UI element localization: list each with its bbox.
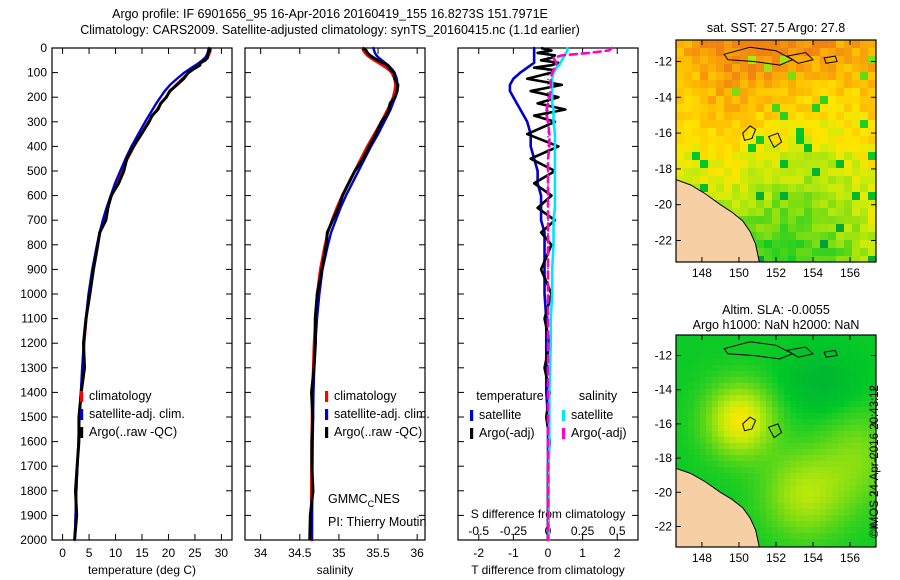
sla-pixel (790, 389, 796, 395)
sla-pixel (766, 389, 772, 395)
sla-pixel (784, 425, 790, 431)
sst-pixel (828, 80, 836, 88)
sst-pixel (788, 144, 796, 152)
sla-pixel (832, 521, 838, 527)
sla-pixel (754, 461, 760, 467)
sla-pixel (784, 401, 790, 407)
sla-pixel (850, 389, 856, 395)
sst-pixel (804, 88, 812, 96)
sla-pixel (832, 371, 838, 377)
sla-pixel (694, 467, 700, 473)
sla-pixel (706, 413, 712, 419)
sla-pixel (694, 431, 700, 437)
x-tick-label: 35 (332, 546, 346, 560)
sst-pixel (796, 248, 804, 256)
sla-pixel (718, 365, 724, 371)
sst-pixel (740, 64, 748, 72)
sst-pixel (796, 208, 804, 216)
sst-pixel (708, 184, 716, 192)
sla-pixel (844, 539, 850, 545)
sst-pixel (828, 248, 836, 256)
sst-pixel (708, 176, 716, 184)
sst-pixel (772, 120, 780, 128)
sla-pixel (796, 335, 802, 341)
sla-pixel (814, 467, 820, 473)
sla-pixel (748, 431, 754, 437)
sla-pixel (706, 377, 712, 383)
sst-pixel (764, 184, 772, 192)
sla-pixel (820, 335, 826, 341)
sst-pixel (796, 168, 804, 176)
sla-pixel (844, 515, 850, 521)
sla-pixel (790, 335, 796, 341)
sst-pixel (676, 72, 684, 80)
sla-pixel (688, 455, 694, 461)
sla-pixel (772, 491, 778, 497)
sst-pixel (812, 128, 820, 136)
sla-pixel (838, 497, 844, 503)
sla-pixel (784, 383, 790, 389)
sla-pixel (790, 437, 796, 443)
sst-pixel (692, 64, 700, 72)
sst-pixel (756, 184, 764, 192)
sla-pixel (766, 455, 772, 461)
sla-pixel (712, 389, 718, 395)
sst-pixel (732, 128, 740, 136)
sla-pixel (790, 449, 796, 455)
sla-pixel (814, 407, 820, 413)
sla-pixel (790, 455, 796, 461)
sst-pixel (748, 56, 756, 64)
sla-pixel (772, 365, 778, 371)
sst-pixel (836, 64, 844, 72)
sst-pixel (844, 232, 852, 240)
sla-pixel (742, 413, 748, 419)
sla-pixel (808, 455, 814, 461)
sla-pixel (862, 407, 868, 413)
sst-pixel (804, 104, 812, 112)
sla-pixel (760, 395, 766, 401)
sst-pixel (756, 192, 764, 200)
sst-pixel (700, 152, 708, 160)
sst-pixel (844, 88, 852, 96)
sst-pixel (756, 40, 764, 48)
sst-pixel (868, 64, 876, 72)
sla-pixel (814, 455, 820, 461)
sla-pixel (850, 473, 856, 479)
sla-pixel (772, 395, 778, 401)
sst-pixel (700, 104, 708, 112)
sst-pixel (812, 216, 820, 224)
sla-pixel (766, 479, 772, 485)
sla-pixel (742, 491, 748, 497)
sla-pixel (802, 359, 808, 365)
sla-pixel (790, 515, 796, 521)
sla-pixel (742, 395, 748, 401)
sst-pixel (836, 216, 844, 224)
sst-pixel (820, 200, 828, 208)
sla-pixel (760, 383, 766, 389)
sst-pixel (812, 144, 820, 152)
sla-pixel (760, 443, 766, 449)
sla-pixel (844, 497, 850, 503)
sst-pixel (844, 104, 852, 112)
sla-pixel (862, 395, 868, 401)
sla-pixel (754, 359, 760, 365)
sla-pixel (796, 545, 802, 551)
sst-pixel (780, 200, 788, 208)
lat-tick-label: -16 (655, 126, 673, 140)
sst-pixel (828, 144, 836, 152)
sst-pixel (740, 200, 748, 208)
sla-pixel (826, 539, 832, 545)
sst-pixel (748, 96, 756, 104)
sla-pixel (862, 401, 868, 407)
sla-pixel (718, 413, 724, 419)
sst-pixel (748, 160, 756, 168)
sst-pixel (764, 176, 772, 184)
sla-pixel (790, 527, 796, 533)
sst-pixel (708, 128, 716, 136)
sla-pixel (688, 353, 694, 359)
sla-pixel (862, 431, 868, 437)
sla-pixel (712, 377, 718, 383)
sla-pixel (742, 437, 748, 443)
panel-map-sla: 148150152154156-12-14-16-18-20-22Altim. … (655, 303, 880, 565)
sst-pixel (812, 64, 820, 72)
sst-pixel (836, 72, 844, 80)
figure-canvas: 0100200300400500600700800900100011001200… (0, 0, 900, 580)
sla-pixel (706, 473, 712, 479)
sst-pixel (868, 152, 876, 160)
sla-pixel (784, 449, 790, 455)
sla-pixel (802, 521, 808, 527)
sst-pixel (780, 144, 788, 152)
sla-pixel (766, 527, 772, 533)
sla-pixel (724, 335, 730, 341)
map-sst-title: sat. SST: 27.5 Argo: 27.8 (707, 21, 845, 35)
sst-pixel (844, 152, 852, 160)
sla-pixel (760, 389, 766, 395)
sla-pixel (736, 431, 742, 437)
sst-pixel (844, 40, 852, 48)
sst-pixel (692, 120, 700, 128)
sst-pixel (724, 128, 732, 136)
sla-pixel (778, 467, 784, 473)
sla-pixel (808, 365, 814, 371)
sla-pixel (712, 371, 718, 377)
sla-pixel (724, 479, 730, 485)
sst-pixel (828, 192, 836, 200)
sla-pixel (826, 377, 832, 383)
sst-pixel (860, 184, 868, 192)
sst-pixel (820, 240, 828, 248)
depth-tick-label: 600 (27, 189, 47, 203)
sst-pixel (724, 184, 732, 192)
sla-pixel (748, 365, 754, 371)
sst-pixel (812, 136, 820, 144)
sst-pixel (868, 240, 876, 248)
sst-pixel (796, 112, 804, 120)
sst-pixel (676, 160, 684, 168)
sst-pixel (764, 112, 772, 120)
sla-pixel (784, 443, 790, 449)
sla-pixel (748, 479, 754, 485)
sst-pixel (740, 184, 748, 192)
sla-pixel (796, 431, 802, 437)
sla-pixel (730, 461, 736, 467)
sla-pixel (760, 449, 766, 455)
legend-label: Argo(-adj) (571, 426, 627, 440)
sla-pixel (844, 455, 850, 461)
sla-pixel (796, 491, 802, 497)
sst-pixel (796, 152, 804, 160)
lon-tick-label: 154 (803, 551, 823, 565)
x-tick-label-s: 0.5 (609, 524, 626, 538)
sla-pixel (838, 341, 844, 347)
sst-pixel (804, 80, 812, 88)
sla-pixel (724, 407, 730, 413)
sla-pixel (790, 419, 796, 425)
sla-pixel (808, 407, 814, 413)
sla-pixel (760, 509, 766, 515)
sla-pixel (736, 491, 742, 497)
sla-pixel (802, 437, 808, 443)
sla-pixel (832, 377, 838, 383)
sst-pixel (836, 112, 844, 120)
panel-map-sst: 148150152154156-12-14-16-18-20-22sat. SS… (655, 21, 876, 280)
sst-pixel (788, 120, 796, 128)
sst-pixel (692, 40, 700, 48)
depth-tick-label: 200 (27, 90, 47, 104)
sst-pixel (796, 48, 804, 56)
sla-pixel (754, 491, 760, 497)
sst-pixel (764, 72, 772, 80)
sla-pixel (724, 473, 730, 479)
sla-pixel (694, 443, 700, 449)
sla-pixel (694, 449, 700, 455)
sst-pixel (748, 80, 756, 88)
sst-pixel (820, 256, 828, 264)
sst-pixel (804, 176, 812, 184)
lon-tick-label: 148 (692, 266, 712, 280)
sla-pixel (754, 473, 760, 479)
sst-pixel (748, 40, 756, 48)
sst-pixel (852, 232, 860, 240)
sst-pixel (796, 136, 804, 144)
sla-pixel (682, 353, 688, 359)
sst-pixel (868, 88, 876, 96)
sst-pixel (676, 144, 684, 152)
sst-pixel (844, 208, 852, 216)
sla-pixel (742, 467, 748, 473)
sst-pixel (820, 168, 828, 176)
sla-pixel (730, 371, 736, 377)
sla-pixel (790, 509, 796, 515)
sst-pixel (812, 88, 820, 96)
sst-pixel (716, 160, 724, 168)
sla-pixel (802, 401, 808, 407)
sla-pixel (820, 461, 826, 467)
sst-pixel (860, 176, 868, 184)
sst-pixel (724, 176, 732, 184)
sla-pixel (712, 365, 718, 371)
sla-pixel (772, 515, 778, 521)
sst-pixel (692, 80, 700, 88)
sst-pixel (684, 104, 692, 112)
sla-pixel (700, 443, 706, 449)
sla-pixel (844, 425, 850, 431)
x-tick-label: 5 (86, 546, 93, 560)
sla-pixel (784, 377, 790, 383)
sst-pixel (852, 64, 860, 72)
sst-pixel (820, 144, 828, 152)
sla-pixel (808, 485, 814, 491)
sla-pixel (760, 461, 766, 467)
sla-pixel (796, 497, 802, 503)
sla-pixel (826, 431, 832, 437)
sst-pixel (852, 144, 860, 152)
sla-pixel (700, 365, 706, 371)
sla-pixel (712, 473, 718, 479)
sla-pixel (712, 467, 718, 473)
sla-pixel (754, 515, 760, 521)
sla-pixel (766, 515, 772, 521)
sst-pixel (692, 48, 700, 56)
sla-pixel (838, 443, 844, 449)
sla-pixel (844, 467, 850, 473)
sst-pixel (772, 80, 780, 88)
sla-pixel (796, 341, 802, 347)
sla-pixel (682, 341, 688, 347)
sst-pixel (684, 144, 692, 152)
sst-pixel (852, 88, 860, 96)
sst-pixel (868, 224, 876, 232)
sla-pixel (832, 455, 838, 461)
sla-pixel (850, 527, 856, 533)
sla-pixel (838, 377, 844, 383)
sst-pixel (828, 256, 836, 264)
sst-pixel (860, 208, 868, 216)
sla-pixel (862, 371, 868, 377)
sst-pixel (820, 232, 828, 240)
sst-pixel (844, 200, 852, 208)
sla-pixel (850, 353, 856, 359)
sst-pixel (828, 176, 836, 184)
sla-pixel (802, 365, 808, 371)
sla-pixel (760, 467, 766, 473)
sla-pixel (814, 395, 820, 401)
sla-pixel (850, 335, 856, 341)
sla-pixel (718, 359, 724, 365)
legend-label: satellite-adj. clim. (89, 407, 185, 421)
sla-pixel (844, 407, 850, 413)
sst-pixel (764, 120, 772, 128)
sla-pixel (850, 401, 856, 407)
lat-tick-label: -12 (655, 349, 673, 363)
sst-pixel (756, 168, 764, 176)
sst-pixel (820, 224, 828, 232)
sla-pixel (784, 407, 790, 413)
sla-pixel (760, 473, 766, 479)
sla-pixel (832, 509, 838, 515)
sla-pixel (772, 485, 778, 491)
sst-pixel (868, 72, 876, 80)
sla-pixel (814, 437, 820, 443)
sla-pixel (688, 461, 694, 467)
sla-pixel (682, 365, 688, 371)
sst-pixel (820, 152, 828, 160)
sla-pixel (820, 407, 826, 413)
depth-tick-label: 2000 (20, 533, 47, 547)
sst-pixel (796, 40, 804, 48)
sst-pixel (708, 72, 716, 80)
sla-pixel (826, 479, 832, 485)
sla-pixel (778, 449, 784, 455)
sst-pixel (852, 216, 860, 224)
sla-pixel (778, 473, 784, 479)
sst-pixel (756, 96, 764, 104)
sst-pixel (732, 104, 740, 112)
sla-pixel (802, 479, 808, 485)
sst-pixel (748, 208, 756, 216)
sla-pixel (706, 455, 712, 461)
sst-pixel (820, 96, 828, 104)
depth-tick-label: 800 (27, 238, 47, 252)
sst-pixel (772, 208, 780, 216)
x-tick-label-t: 1 (579, 546, 586, 560)
sla-pixel (772, 443, 778, 449)
sst-pixel (836, 160, 844, 168)
sla-pixel (826, 335, 832, 341)
sst-pixel (716, 88, 724, 96)
sst-pixel (676, 136, 684, 144)
sla-pixel (844, 383, 850, 389)
sla-pixel (820, 413, 826, 419)
sst-pixel (692, 152, 700, 160)
sla-pixel (682, 413, 688, 419)
sst-pixel (788, 112, 796, 120)
sla-pixel (730, 401, 736, 407)
sst-pixel (788, 232, 796, 240)
sla-pixel (700, 437, 706, 443)
sla-pixel (748, 419, 754, 425)
sla-pixel (742, 455, 748, 461)
sla-pixel (742, 407, 748, 413)
legend-swatch (470, 428, 473, 439)
sst-pixel (852, 80, 860, 88)
sla-pixel (808, 467, 814, 473)
sla-pixel (802, 461, 808, 467)
sst-pixel (692, 160, 700, 168)
lat-tick-label: -20 (655, 198, 673, 212)
sla-pixel (856, 521, 862, 527)
sla-pixel (814, 401, 820, 407)
sla-pixel (802, 371, 808, 377)
sla-pixel (844, 533, 850, 539)
gmmc-tail: NES (374, 492, 400, 506)
sla-pixel (676, 335, 682, 341)
sla-pixel (676, 413, 682, 419)
sla-pixel (784, 371, 790, 377)
legend-label: satellite (571, 408, 613, 422)
sla-pixel (760, 485, 766, 491)
sla-pixel (682, 455, 688, 461)
sla-pixel (832, 395, 838, 401)
sst-pixel (740, 88, 748, 96)
sst-pixel (788, 176, 796, 184)
sst-pixel (804, 160, 812, 168)
